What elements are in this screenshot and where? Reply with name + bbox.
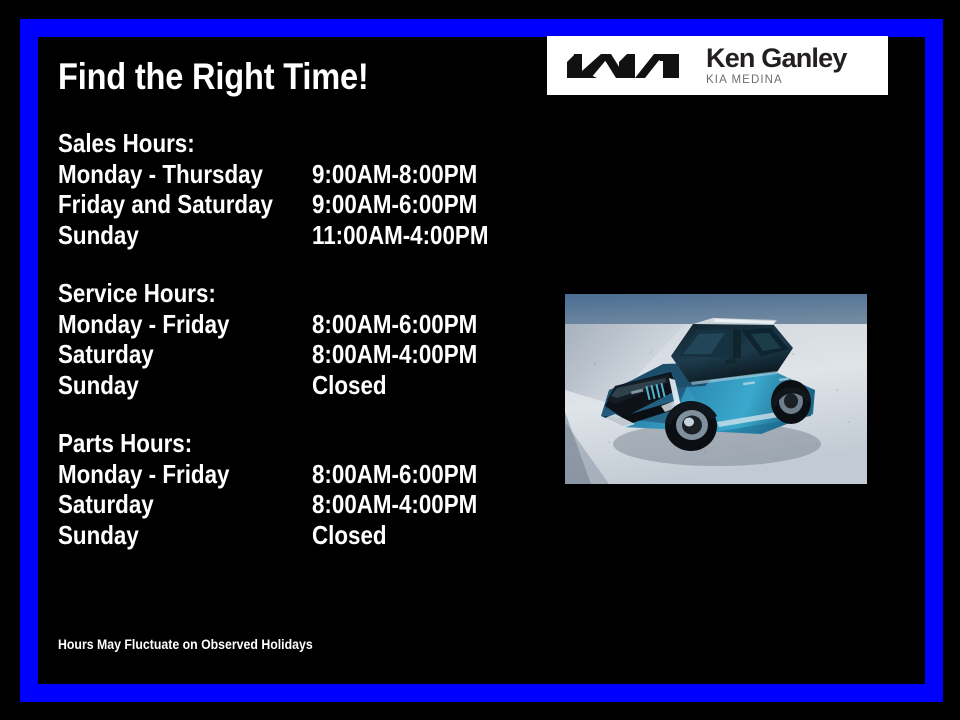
time-label: 9:00AM-8:00PM <box>312 159 477 190</box>
day-label: Monday - Thursday <box>58 159 263 190</box>
section-heading: Sales Hours: <box>58 128 462 159</box>
day-label: Monday - Friday <box>58 459 229 490</box>
hours-group-parts: Parts Hours: Monday - Friday 8:00AM-6:00… <box>58 428 528 550</box>
kia-logo-icon <box>565 51 681 81</box>
day-label: Saturday <box>58 489 154 520</box>
dealer-logo-plate: Ken Ganley KIA MEDINA <box>547 36 888 95</box>
time-label: 11:00AM-4:00PM <box>312 220 488 251</box>
page-title: Find the Right Time! <box>58 58 369 95</box>
holiday-disclaimer: Hours May Fluctuate on Observed Holidays <box>58 636 313 653</box>
time-label: 8:00AM-4:00PM <box>312 339 477 370</box>
hours-row: Saturday 8:00AM-4:00PM <box>58 339 528 370</box>
dealer-name: Ken Ganley <box>706 44 847 72</box>
time-label: 9:00AM-6:00PM <box>312 189 477 220</box>
hours-group-service: Service Hours: Monday - Friday 8:00AM-6:… <box>58 278 528 400</box>
hours-row: Friday and Saturday 9:00AM-6:00PM <box>58 189 528 220</box>
day-label: Sunday <box>58 520 139 551</box>
dealer-name-block: Ken Ganley KIA MEDINA <box>706 44 847 87</box>
hours-group-sales: Sales Hours: Monday - Thursday 9:00AM-8:… <box>58 128 528 250</box>
day-label: Sunday <box>58 370 139 401</box>
day-label: Monday - Friday <box>58 309 229 340</box>
time-label: Closed <box>312 520 387 551</box>
time-label: 8:00AM-6:00PM <box>312 459 477 490</box>
time-label: Closed <box>312 370 387 401</box>
kia-ev9-illustration <box>565 294 867 484</box>
hours-row: Monday - Friday 8:00AM-6:00PM <box>58 309 528 340</box>
time-label: 8:00AM-4:00PM <box>312 489 477 520</box>
day-label: Saturday <box>58 339 154 370</box>
hours-row: Sunday 11:00AM-4:00PM <box>58 220 528 251</box>
hours-row: Sunday Closed <box>58 370 528 401</box>
hours-row: Monday - Friday 8:00AM-6:00PM <box>58 459 528 490</box>
hours-row: Sunday Closed <box>58 520 528 551</box>
section-heading: Service Hours: <box>58 278 462 309</box>
day-label: Sunday <box>58 220 139 251</box>
hours-sections: Sales Hours: Monday - Thursday 9:00AM-8:… <box>58 128 528 550</box>
slide-canvas: Find the Right Time! Sales Hours: Monday… <box>0 0 960 720</box>
time-label: 8:00AM-6:00PM <box>312 309 477 340</box>
hours-row: Saturday 8:00AM-4:00PM <box>58 489 528 520</box>
section-heading: Parts Hours: <box>58 428 462 459</box>
dealer-location: KIA MEDINA <box>706 73 847 87</box>
vehicle-photo <box>565 294 867 484</box>
day-label: Friday and Saturday <box>58 189 273 220</box>
hours-row: Monday - Thursday 9:00AM-8:00PM <box>58 159 528 190</box>
